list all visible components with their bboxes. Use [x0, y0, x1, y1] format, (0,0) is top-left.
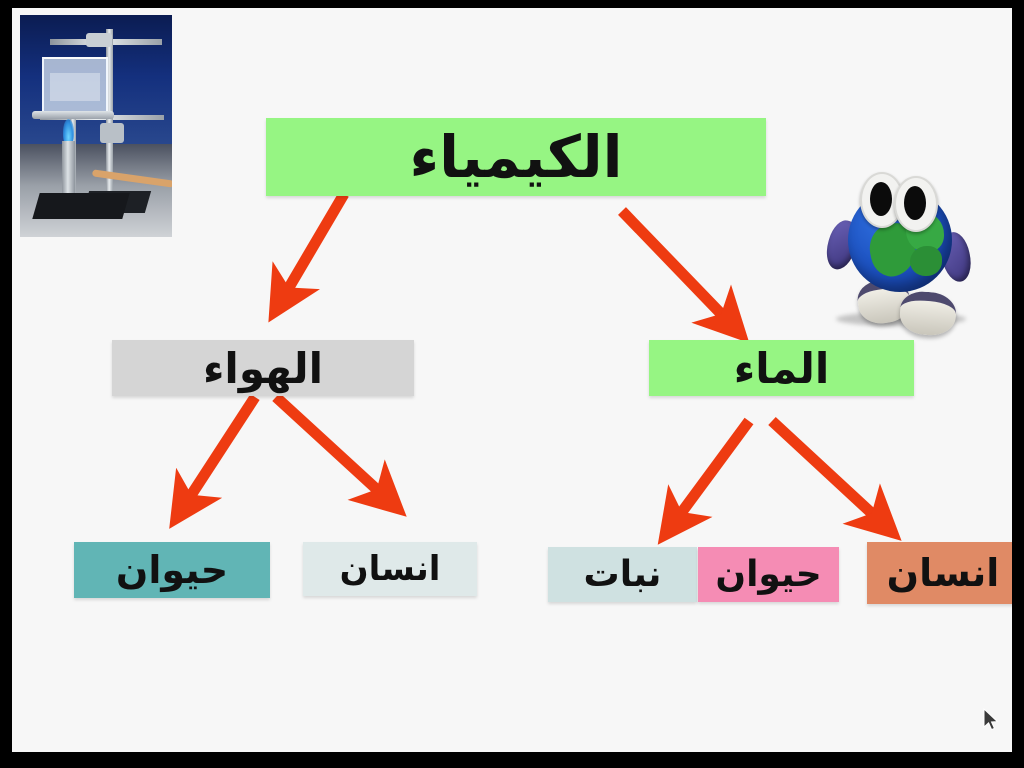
arrow-water-to-human [772, 421, 879, 520]
photo-clamp-lower [100, 123, 124, 143]
mouse-pointer-icon [982, 708, 1000, 732]
concept-node-air[interactable]: الهواء [112, 340, 414, 396]
concept-node-water-animal[interactable]: حيوان [698, 547, 839, 602]
photo-tripod [32, 111, 114, 119]
slide-viewer-frame: الكيمياء الهواء الماء حيوان انسان نبات ح… [0, 0, 1024, 768]
arrow-water-to-plant [676, 421, 749, 520]
concept-node-air-animal[interactable]: حيوان [74, 542, 270, 598]
photo-stand-base [32, 193, 129, 219]
slide-canvas: الكيمياء الهواء الماء حيوان انسان نبات ح… [12, 8, 1012, 752]
mascot-pupil-left [870, 182, 892, 216]
mascot-shoe-right [899, 290, 958, 337]
mascot-pupil-right [904, 186, 926, 220]
concept-node-water[interactable]: الماء [649, 340, 914, 396]
concept-node-water-human[interactable]: انسان [867, 542, 1012, 604]
arrow-air-to-human [276, 397, 384, 496]
arrow-chemistry-to-water [622, 211, 728, 321]
mascot-continent-right [910, 246, 942, 276]
lab-heating-beaker-photo [20, 15, 172, 237]
concept-node-water-plant[interactable]: نبات [548, 547, 697, 602]
arrow-chemistry-to-air [284, 194, 344, 296]
concept-node-air-human[interactable]: انسان [303, 542, 477, 596]
arrow-air-to-animal [186, 397, 255, 503]
photo-clamp-upper [86, 33, 112, 47]
concept-node-chemistry[interactable]: الكيمياء [266, 118, 766, 196]
photo-beaker [42, 57, 108, 117]
cartoon-globe-character-image [818, 170, 980, 328]
